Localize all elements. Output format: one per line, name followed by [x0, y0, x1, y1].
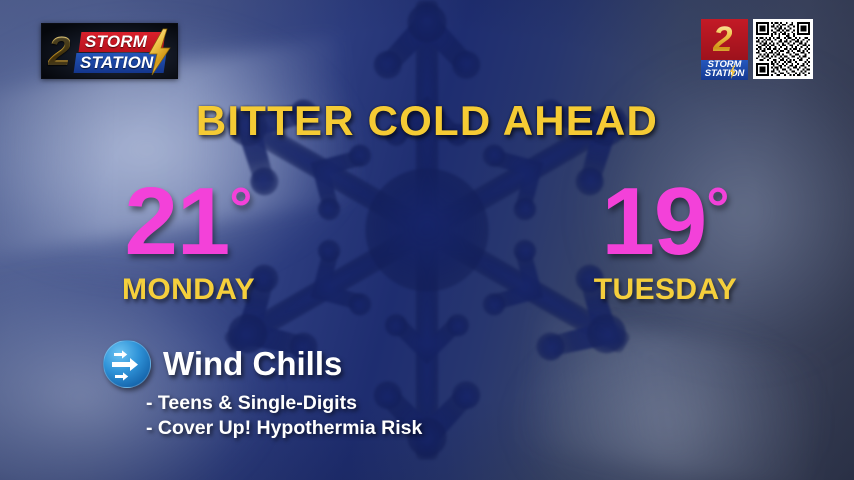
panel-header: Wind Chills — [103, 338, 422, 390]
forecast-day-tuesday: 19° TUESDAY — [459, 160, 854, 307]
forecast-day-monday: 21° MONDAY — [0, 160, 459, 307]
weather-graphic: 2 STORM STATION 2 STORM STATION — [0, 0, 854, 480]
degree-symbol: ° — [229, 176, 252, 241]
day-label-monday: MONDAY — [0, 273, 377, 307]
logo-storm-text: STORM — [85, 33, 147, 51]
forecast-row: 21° MONDAY 19° TUESDAY — [0, 160, 854, 307]
storm-station-corner-logo: 2 STORM STATION — [701, 19, 748, 80]
advisory-panels: Wind Chills - Teens & Single-Digits - Co… — [0, 338, 854, 441]
qr-code-icon[interactable] — [753, 19, 813, 79]
temperature-value-tuesday: 19° — [477, 160, 854, 271]
bullet-item: - Teens & Single-Digits — [146, 391, 422, 416]
advisory-panel-pipe-issues: Pipe Issues - Monday & Tuesday - Slow Dr… — [422, 338, 854, 441]
wind-arrows-icon — [103, 340, 151, 388]
bullet-item: - Cover Up! Hypothermia Risk — [146, 416, 422, 441]
degree-symbol: ° — [706, 176, 729, 241]
temperature-value-monday: 21° — [0, 160, 377, 271]
storm-station-logo: 2 STORM STATION — [41, 23, 178, 79]
logo-station-text: STATION — [80, 54, 153, 72]
panel-bullets: - Teens & Single-Digits - Cover Up! Hypo… — [146, 391, 422, 441]
day-label-tuesday: TUESDAY — [477, 273, 854, 307]
logo-channel-number: 2 — [48, 29, 70, 73]
corner-logo-station-text: STATION — [703, 69, 746, 79]
page-title: BITTER COLD AHEAD — [0, 98, 854, 144]
corner-logo-channel-number: 2 — [713, 20, 732, 60]
panel-title-wind-chills: Wind Chills — [163, 346, 342, 382]
advisory-panel-wind-chills: Wind Chills - Teens & Single-Digits - Co… — [0, 338, 422, 441]
lightning-bolt-icon — [146, 28, 172, 76]
temperature-number: 19 — [602, 168, 707, 275]
lightning-bolt-icon — [729, 65, 736, 79]
temperature-number: 21 — [125, 168, 230, 275]
